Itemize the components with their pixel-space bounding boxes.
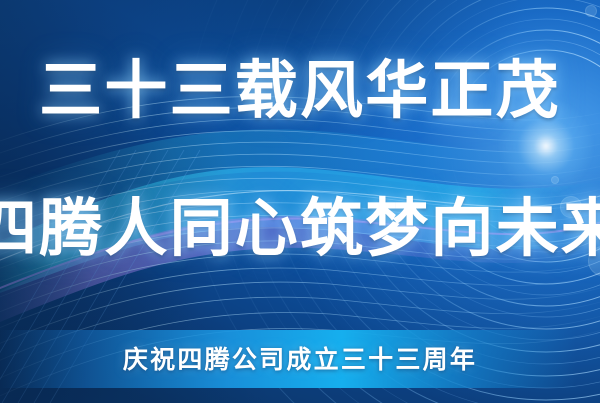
poster-text-group: 三十三载风华正茂 四腾人同心筑梦向未来 庆祝四腾公司成立三十三周年 (0, 0, 600, 403)
poster-subtitle: 庆祝四腾公司成立三十三周年 (123, 340, 477, 376)
celebration-poster: 三十三载风华正茂 四腾人同心筑梦向未来 庆祝四腾公司成立三十三周年 (0, 0, 600, 403)
headline-line-2: 四腾人同心筑梦向未来 (0, 198, 600, 261)
headline-line-1: 三十三载风华正茂 (39, 60, 561, 123)
